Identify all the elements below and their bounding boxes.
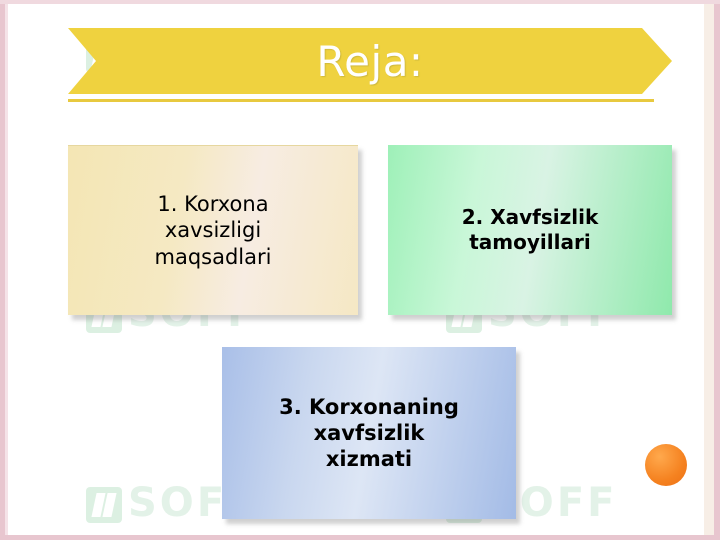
content-box-1[interactable]: 1. Korxona xavsizligi maqsadlari [68,145,358,315]
page-border-left-inner [5,0,8,540]
page-border-right-inner [704,0,714,540]
content-box-3[interactable]: 3. Korxonaning xavfsizlik xizmati [222,347,516,519]
slide: SOFF SOFF SOFF SOFF SOFF SOFF Reja: 1. K… [0,0,720,540]
page-border-top [0,0,720,4]
content-box-3-label: 3. Korxonaning xavfsizlik xizmati [269,394,469,473]
content-box-2[interactable]: 2. Xavfsizlik tamoyillari [388,145,672,315]
page-title: Reja: [68,28,672,94]
title-banner: Reja: [68,28,672,94]
content-box-2-label: 2. Xavfsizlik tamoyillari [452,205,609,255]
page-border-right [714,0,720,540]
orange-circle-decoration [645,444,687,486]
js-soff-logo-icon [86,487,122,523]
banner-underline [68,99,654,102]
page-border-bottom [0,535,720,540]
content-box-1-label: 1. Korxona xavsizligi maqsadlari [145,191,282,270]
